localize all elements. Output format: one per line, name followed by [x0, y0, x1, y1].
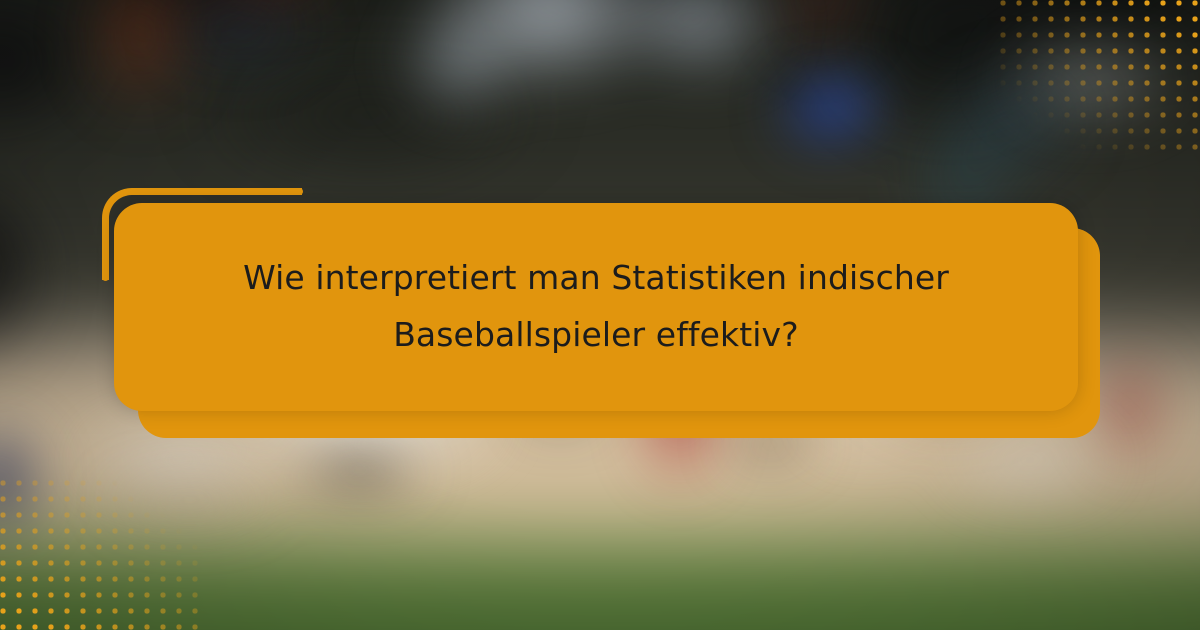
- dot-grid-pattern-bottom-left: [0, 480, 200, 630]
- social-card-canvas: Wie interpretiert man Statistiken indisc…: [0, 0, 1200, 630]
- page-title: Wie interpretiert man Statistiken indisc…: [146, 250, 1046, 364]
- title-card: Wie interpretiert man Statistiken indisc…: [114, 203, 1078, 411]
- dot-grid-pattern-top-right: [1000, 0, 1200, 150]
